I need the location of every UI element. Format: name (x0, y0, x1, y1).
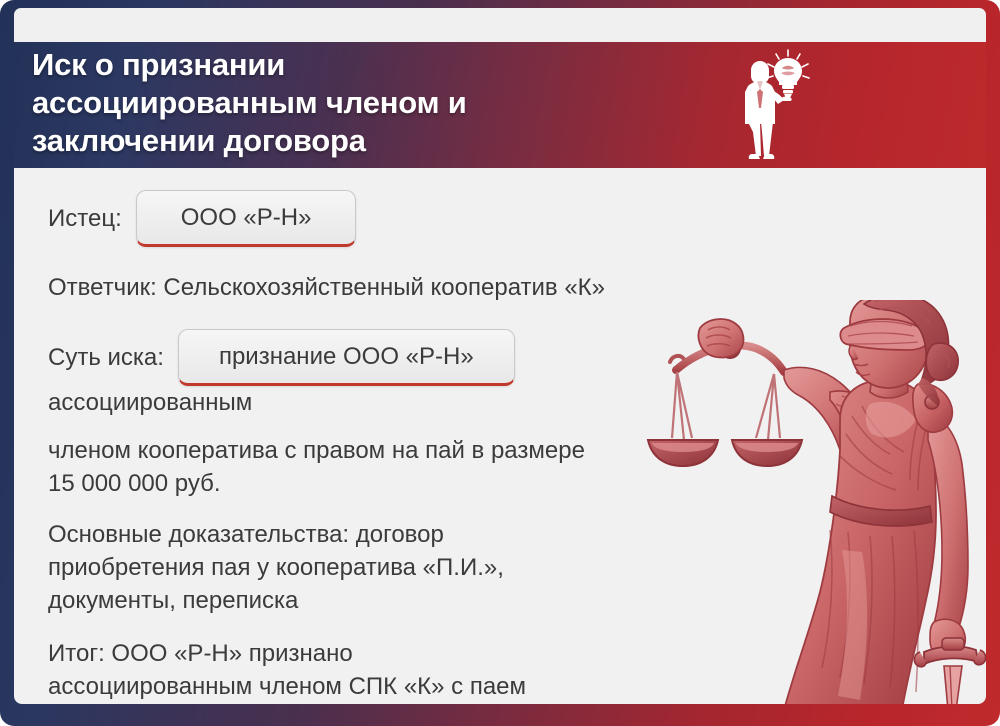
content-card: Истец: ООО «Р-Н» Ответчик: Сельскохозяйс… (14, 168, 986, 704)
result-text: Итог: ООО «Р-Н» признано ассоциированным… (48, 637, 708, 704)
page-title: Иск о признании ассоциированным членом и… (32, 46, 792, 160)
claim-value-chip[interactable]: признание ООО «Р-Н» (178, 329, 515, 386)
defendant-label-value: Ответчик: Сельскохозяйственный кооперати… (48, 274, 605, 301)
case-summary: Истец: ООО «Р-Н» Ответчик: Сельскохозяйс… (48, 190, 708, 704)
plaintiff-label: Истец: (48, 202, 122, 236)
businessman-lightbulb-icon (726, 48, 816, 166)
defendant-row: Ответчик: Сельскохозяйственный кооперати… (48, 271, 708, 305)
claim-tail-text: ассоциированным (48, 386, 252, 420)
infographic-card: Иск о признании ассоциированным членом и… (0, 0, 1000, 726)
evidence-text: Основные доказательства: договор приобре… (48, 518, 708, 617)
header-band: Иск о признании ассоциированным членом и… (14, 42, 986, 168)
plaintiff-row: Истец: ООО «Р-Н» (48, 190, 708, 247)
top-light-strip (14, 8, 986, 42)
claim-rest-text: членом кооператива с правом на пай в раз… (48, 434, 708, 500)
plaintiff-value-chip[interactable]: ООО «Р-Н» (136, 190, 357, 247)
claim-label: Суть иска: (48, 341, 164, 375)
claim-row: Суть иска: признание ООО «Р-Н» ассоцииро… (48, 329, 708, 420)
